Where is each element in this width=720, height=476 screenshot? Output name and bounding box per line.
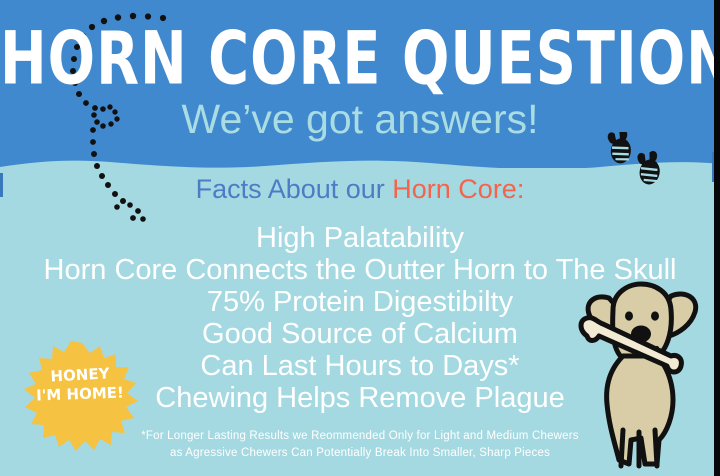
fact-item: High Palatability <box>0 222 720 254</box>
badge-line-2: I'M HOME! <box>24 383 137 406</box>
left-edge-tick <box>0 173 3 197</box>
page-title: HORN CORE QUESTIONS? <box>0 22 720 95</box>
right-edge-strip <box>714 0 720 476</box>
bees-icon <box>596 132 678 202</box>
poster-canvas: HONEY I'M HOME! HORN CORE QUESTIONS? We’… <box>0 0 720 476</box>
dog-with-bone-icon <box>567 280 717 476</box>
facts-heading-lead: Facts About our <box>196 174 393 204</box>
facts-heading-accent: Horn Core: <box>392 174 524 204</box>
badge-text: HONEY I'M HOME! <box>24 366 136 404</box>
